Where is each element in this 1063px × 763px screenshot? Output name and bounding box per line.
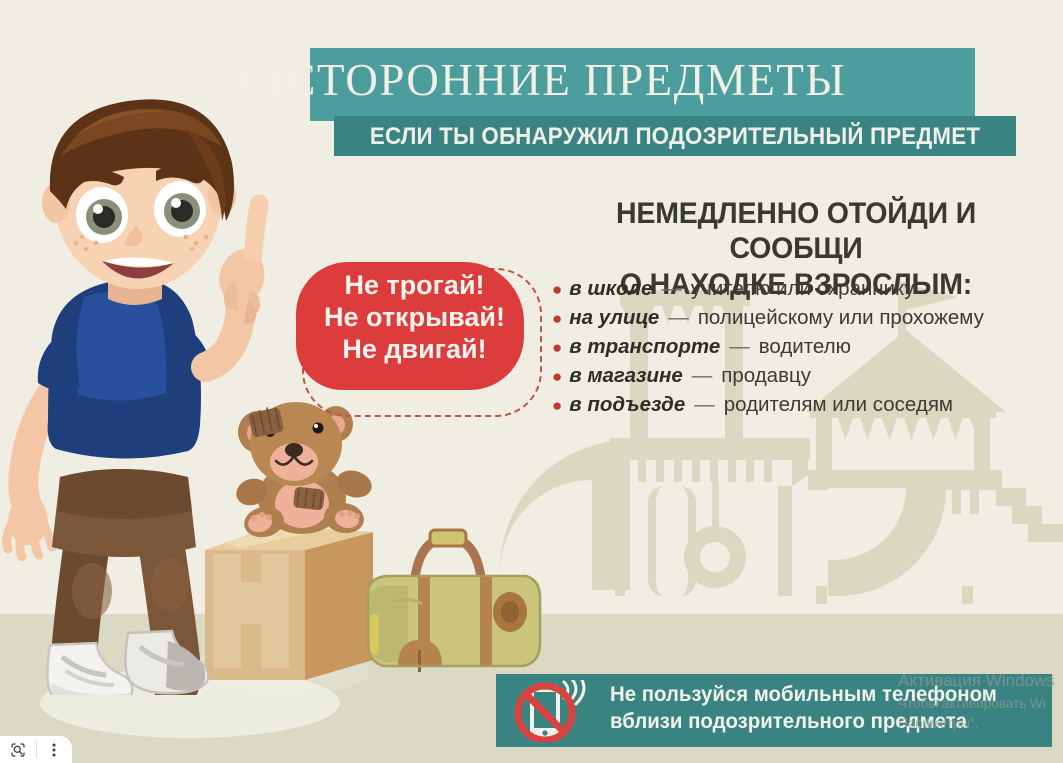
list-item-key: на улице — [569, 306, 659, 330]
banner-line-1: Не пользуйся мобильным телефоном — [610, 682, 1037, 709]
duffel-bag — [352, 516, 552, 686]
warning-banner-text: Не пользуйся мобильным телефоном вблизи … — [610, 682, 1050, 736]
banner-line-2: вблизи подозрительного предмета — [610, 709, 1037, 736]
main-heading-line1: НЕМЕДЛЕННО ОТОЙДИ И СООБЩИ — [549, 196, 1043, 267]
list-item: ● в магазине — продавцу — [552, 364, 1052, 393]
contact-list: ● в школе — учителю или охраннику ● на у… — [552, 277, 1052, 422]
list-item-key: в магазине — [569, 364, 682, 388]
list-item-key: в транспорте — [569, 335, 720, 359]
list-item-dash: — — [727, 335, 752, 359]
list-item-value: водителю — [759, 335, 851, 359]
bullet-icon: ● — [552, 310, 562, 327]
three-dot-menu-icon[interactable] — [36, 736, 72, 763]
list-item-dash: — — [666, 306, 691, 330]
boy-character — [0, 85, 330, 695]
list-item: ● в школе — учителю или охраннику — [552, 277, 1052, 306]
speech-bubble-text: Не трогай! Не открывай! Не двигай! — [302, 270, 527, 366]
list-item-value: родителям или соседям — [724, 393, 953, 417]
bullet-icon: ● — [552, 368, 562, 385]
speech-line-1: Не трогай! — [302, 270, 527, 302]
lens-search-icon[interactable] — [0, 736, 36, 763]
speech-line-3: Не двигай! — [302, 334, 527, 366]
poster-subtitle: ЕСЛИ ТЫ ОБНАРУЖИЛ ПОДОЗРИТЕЛЬНЫЙ ПРЕДМЕТ — [358, 123, 992, 151]
list-item: ● на улице — полицейскому или прохожему — [552, 306, 1052, 335]
list-item-dash: — — [659, 277, 684, 301]
list-item-dash: — — [690, 364, 715, 388]
list-item-key: в подъезде — [569, 393, 685, 417]
list-item: ● в транспорте — водителю — [552, 335, 1052, 364]
browser-toolbar — [0, 736, 72, 763]
list-item: ● в подъезде — родителям или соседям — [552, 393, 1052, 422]
safety-poster: ПОСТОРОННИЕ ПРЕДМЕТЫ ЕСЛИ ТЫ ОБНАРУЖИЛ П… — [0, 0, 1063, 763]
bullet-icon: ● — [552, 397, 562, 414]
list-item-dash: — — [692, 393, 717, 417]
no-mobile-phone-icon — [508, 680, 600, 742]
list-item-key: в школе — [569, 277, 652, 301]
bullet-icon: ● — [552, 339, 562, 356]
list-item-value: продавцу — [721, 364, 811, 388]
list-item-value: полицейскому или прохожему — [698, 306, 984, 330]
speech-line-2: Не открывай! — [302, 302, 527, 334]
bullet-icon: ● — [552, 281, 562, 298]
list-item-value: учителю или охраннику — [691, 277, 915, 301]
